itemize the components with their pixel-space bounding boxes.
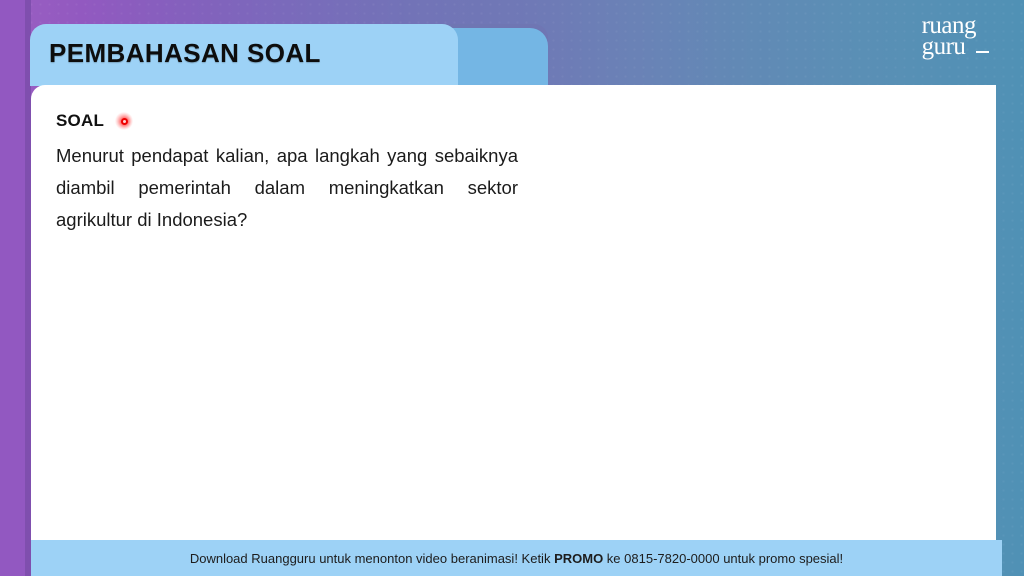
- logo-line-guru-text: guru: [922, 33, 966, 60]
- promo-phone: 0815-7820-0000: [624, 551, 719, 566]
- promo-text-after: untuk promo spesial!: [720, 551, 844, 566]
- left-purple-strip: [0, 0, 25, 576]
- question-text: Menurut pendapat kalian, apa langkah yan…: [56, 140, 518, 236]
- content-card: SOAL Menurut pendapat kalian, apa langka…: [31, 85, 996, 540]
- promo-footer-bar: Download Ruangguru untuk menonton video …: [31, 540, 1002, 576]
- promo-text-before: Download Ruangguru untuk menonton video …: [190, 551, 554, 566]
- content-card-inner: SOAL Menurut pendapat kalian, apa langka…: [56, 110, 956, 236]
- page-title: PEMBAHASAN SOAL: [49, 38, 321, 69]
- promo-footer-text: Download Ruangguru untuk menonton video …: [190, 551, 843, 566]
- record-indicator-core: [121, 118, 128, 125]
- logo-underline-tail: [976, 51, 989, 53]
- promo-keyword: PROMO: [554, 551, 603, 566]
- soal-label: SOAL: [56, 111, 104, 131]
- record-indicator-icon: [115, 112, 133, 130]
- soal-header-row: SOAL: [56, 110, 956, 132]
- promo-text-middle: ke: [603, 551, 624, 566]
- ruangguru-logo: ruang guru: [922, 16, 976, 57]
- logo-line-guru: guru: [922, 37, 976, 58]
